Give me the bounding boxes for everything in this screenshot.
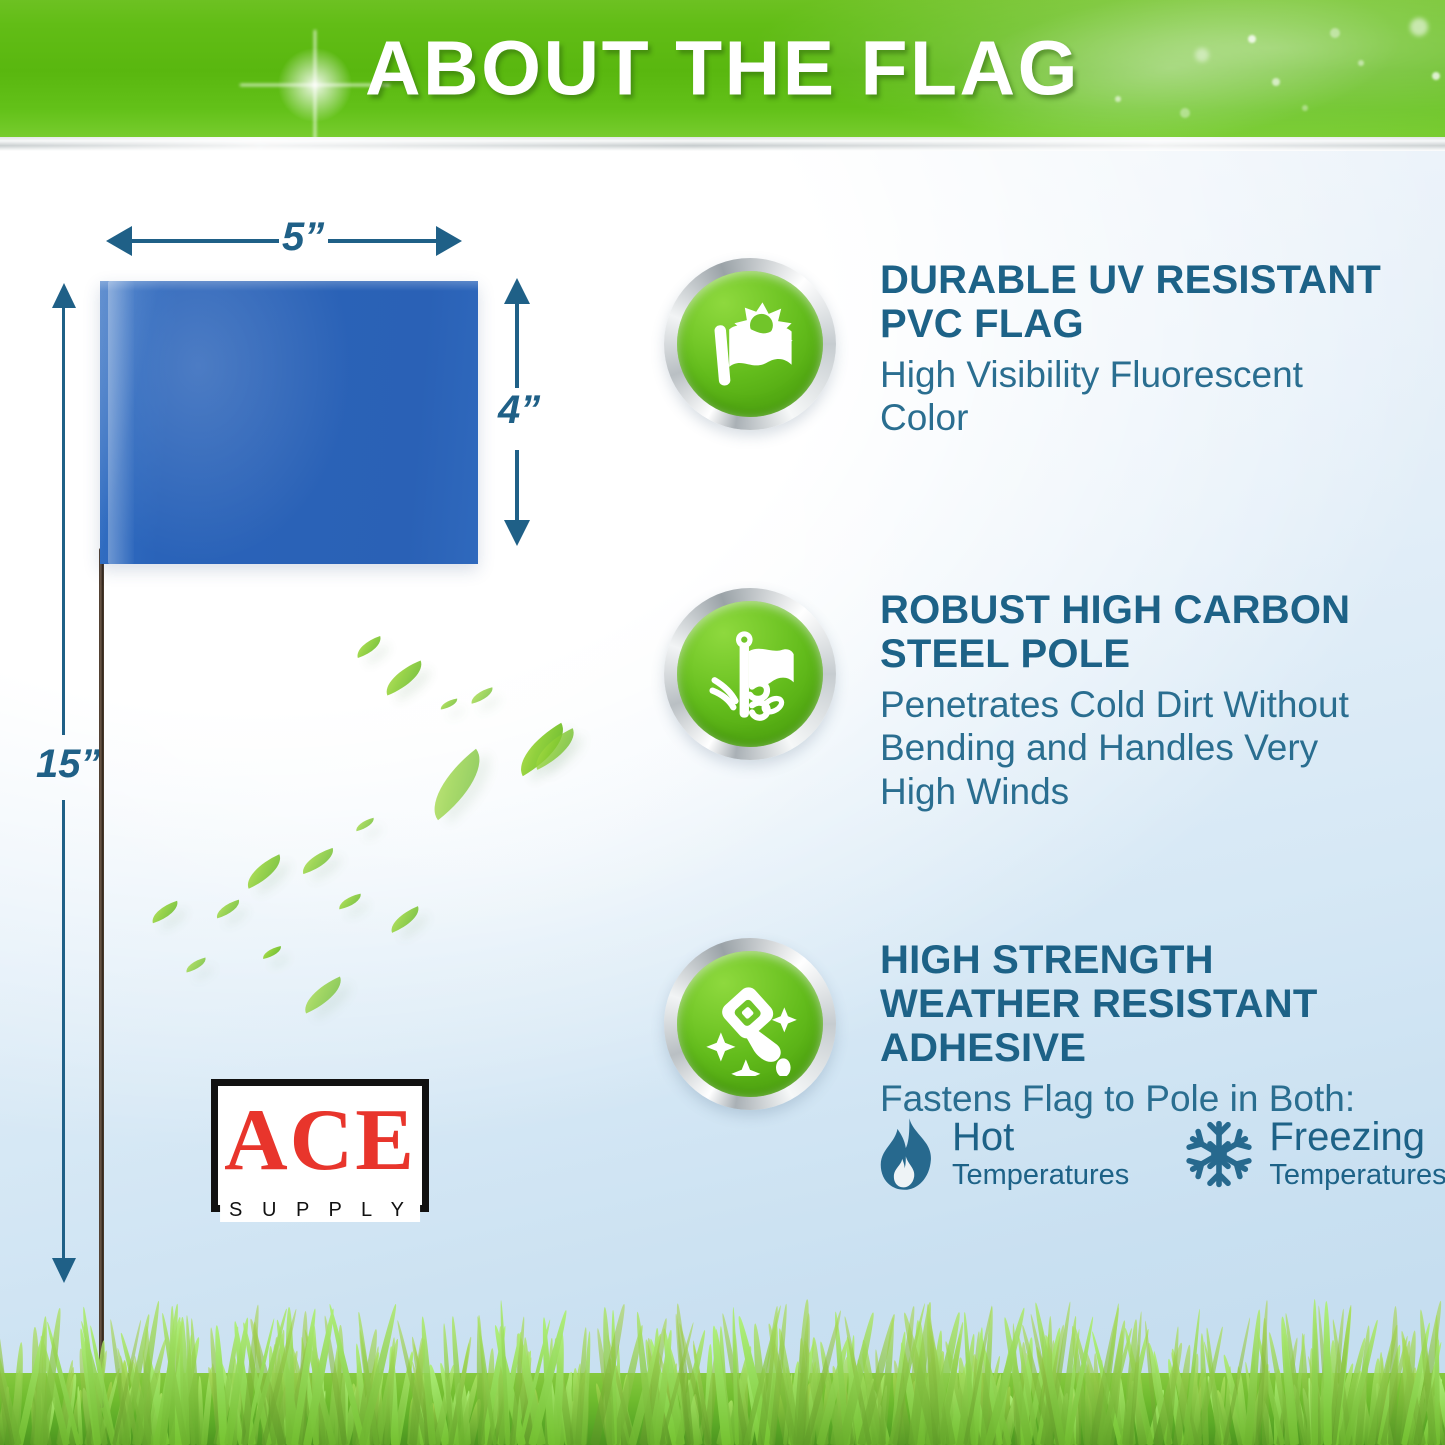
- height-dim-arrow-bottom: [504, 520, 530, 546]
- feature-text-3: HIGH STRENGTH WEATHER RESISTANT ADHESIVE…: [836, 938, 1394, 1120]
- logo-tagline-wrap: S U P P L Y: [220, 1199, 420, 1222]
- temperature-main-freezing: Freezing: [1269, 1117, 1445, 1157]
- flag-pole: [99, 548, 104, 1408]
- logo-brand-text: ACE: [224, 1097, 416, 1185]
- feature-text-1: DURABLE UV RESISTANT PVC FLAG High Visib…: [836, 258, 1394, 440]
- flag-wind-icon: [698, 622, 802, 726]
- pole-dim-line-top: [62, 305, 65, 735]
- feature-badge-3: [664, 938, 836, 1110]
- height-dim-arrow-top: [504, 278, 530, 304]
- flag-sun-icon: [698, 292, 802, 396]
- infographic-canvas: ABOUT THE FLAG 5” 4” 15” ACE S U P P L Y: [0, 0, 1445, 1445]
- feature-text-2: ROBUST HIGH CARBON STEEL POLE Penetrates…: [836, 588, 1394, 813]
- feature-title-3: HIGH STRENGTH WEATHER RESISTANT ADHESIVE: [880, 938, 1394, 1070]
- feature-row-uv-resistant: DURABLE UV RESISTANT PVC FLAG High Visib…: [664, 258, 1394, 440]
- pole-dim-line-bottom: [62, 800, 65, 1260]
- temperature-item-hot: Hot Temperatures: [876, 1117, 1129, 1191]
- feature-badge-inner-1: [677, 271, 823, 417]
- feature-badge-1: [664, 258, 836, 430]
- height-dim-label: 4”: [498, 388, 540, 433]
- temperature-labels-freezing: Freezing Temperatures: [1269, 1117, 1445, 1191]
- height-dim-line-top: [515, 300, 519, 388]
- flag-top-edge: [100, 281, 478, 291]
- feature-desc-2: Penetrates Cold Dirt Without Bending and…: [880, 683, 1394, 813]
- feature-title-2: ROBUST HIGH CARBON STEEL POLE: [880, 588, 1394, 676]
- marking-flag: [100, 281, 478, 564]
- width-dim-label: 5”: [282, 215, 324, 260]
- pole-dim-arrow-top: [52, 283, 76, 308]
- glue-bottle-icon: [698, 972, 802, 1076]
- temperature-sub-hot: Temperatures: [952, 1159, 1129, 1191]
- header-banner: ABOUT THE FLAG: [0, 0, 1445, 137]
- feature-desc-1: High Visibility Fluorescent Color: [880, 353, 1394, 440]
- feature-badge-inner-2: [677, 601, 823, 747]
- feature-badge-2: [664, 588, 836, 760]
- feature-badge-inner-3: [677, 951, 823, 1097]
- temperature-main-hot: Hot: [952, 1117, 1129, 1157]
- snowflake-icon: [1183, 1117, 1255, 1191]
- feature-title-1: DURABLE UV RESISTANT PVC FLAG: [880, 258, 1394, 346]
- banner-chrome-edge: [0, 137, 1445, 151]
- feature-row-adhesive: HIGH STRENGTH WEATHER RESISTANT ADHESIVE…: [664, 938, 1394, 1120]
- page-title: ABOUT THE FLAG: [0, 24, 1445, 113]
- feature-desc-3: Fastens Flag to Pole in Both:: [880, 1077, 1394, 1120]
- temperature-row: Hot Temperatures: [876, 1117, 1445, 1191]
- grass-strip: [0, 1285, 1445, 1445]
- temperature-labels-hot: Hot Temperatures: [952, 1117, 1129, 1191]
- temperature-item-freezing: Freezing Temperatures: [1183, 1117, 1445, 1191]
- height-dim-line-bottom: [515, 450, 519, 522]
- flame-icon: [876, 1117, 938, 1191]
- logo-tagline-text: S U P P L Y: [229, 1199, 411, 1221]
- pole-dim-label: 15”: [36, 742, 101, 787]
- width-dim-arrow-right: [436, 226, 462, 256]
- ace-supply-logo: ACE S U P P L Y: [211, 1079, 429, 1212]
- width-dim-arrow-left: [106, 226, 132, 256]
- width-dim-line-left: [119, 239, 279, 243]
- flag-fold-highlight: [108, 281, 134, 564]
- pole-dim-arrow-bottom: [52, 1258, 76, 1283]
- temperature-sub-freezing: Temperatures: [1269, 1159, 1445, 1191]
- width-dim-line-right: [328, 239, 438, 243]
- feature-row-steel-pole: ROBUST HIGH CARBON STEEL POLE Penetrates…: [664, 588, 1394, 813]
